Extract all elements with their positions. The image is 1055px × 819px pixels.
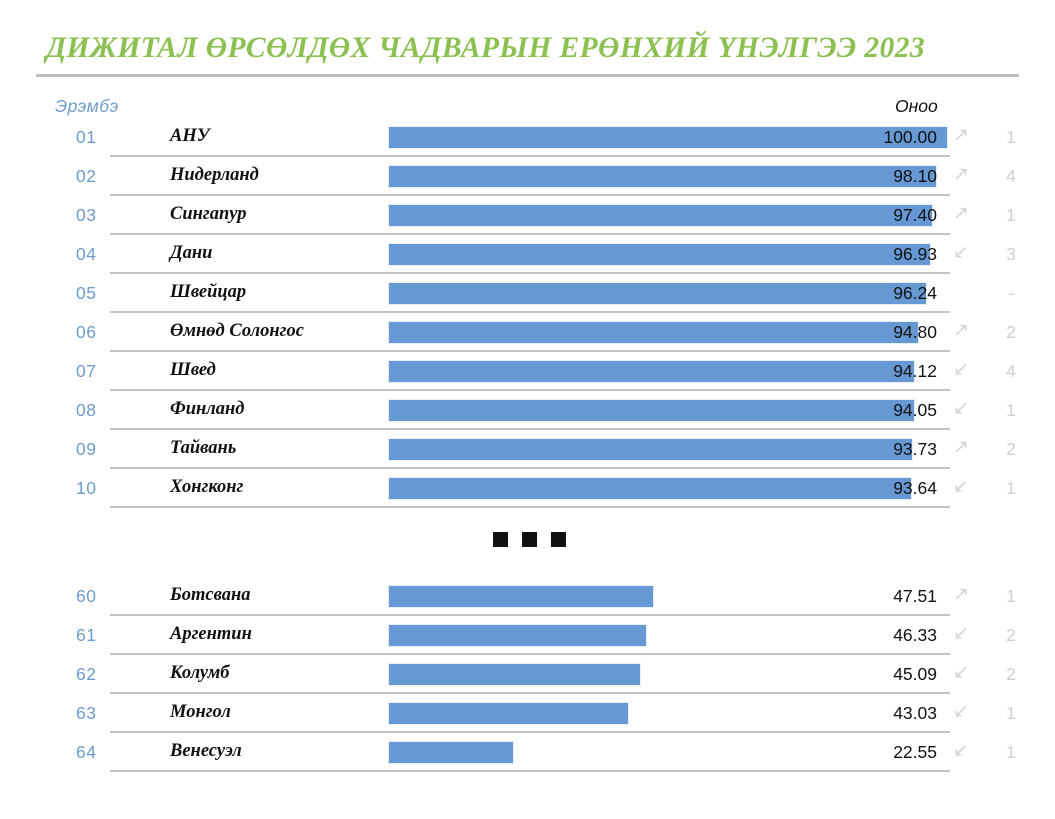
rank-cell: 04 (76, 244, 110, 265)
trend-down-icon: ↙ (950, 740, 972, 762)
score-bar-track (388, 585, 948, 608)
rank-change-value: 4 (1000, 166, 1022, 187)
table-row[interactable]: 02Нидерланд98.10↗4 (0, 157, 1055, 196)
score-bar (388, 165, 937, 188)
ellipsis-square (551, 532, 566, 547)
rank-cell: 07 (76, 361, 110, 382)
score-bar (388, 477, 912, 500)
score-bar-track (388, 438, 948, 461)
rank-cell: 02 (76, 166, 110, 187)
table-row[interactable]: 06Өмнөд Солонгос94.80↗2 (0, 313, 1055, 352)
rank-cell: 08 (76, 400, 110, 421)
rank-cell: 06 (76, 322, 110, 343)
score-value: 94.05 (893, 400, 937, 421)
score-bar-track (388, 663, 948, 686)
score-column-header: Оноо (895, 96, 937, 117)
score-value: 93.64 (893, 478, 937, 499)
table-row[interactable]: 60Ботсвана47.51↗1 (0, 577, 1055, 616)
score-value: 93.73 (893, 439, 937, 460)
score-bar-track (388, 321, 948, 344)
ellipsis-squares (493, 532, 566, 547)
score-bar (388, 126, 948, 149)
title-bar: ДИЖИТАЛ ӨРСӨЛДӨХ ЧАДВАРЫН ЕРӨНХИЙ ҮНЭЛГЭ… (0, 0, 1055, 78)
rank-cell: 62 (76, 664, 110, 685)
country-name-cell: Хонгконг (170, 477, 243, 498)
ellipsis-square (493, 532, 508, 547)
score-value: 100.00 (883, 127, 937, 148)
score-value: 46.33 (893, 625, 937, 646)
score-bar-track (388, 243, 948, 266)
table-row[interactable]: 62Колумб45.09↙2 (0, 655, 1055, 694)
score-value: 45.09 (893, 664, 937, 685)
rank-cell: 61 (76, 625, 110, 646)
trend-down-icon: ↙ (950, 701, 972, 723)
country-name-cell: Нидерланд (170, 165, 259, 186)
rank-change-value: 1 (1000, 400, 1022, 421)
score-bar-track (388, 477, 948, 500)
rank-change-value: 3 (1000, 244, 1022, 265)
score-bar-track (388, 126, 948, 149)
score-value: 96.24 (893, 283, 937, 304)
rank-change-value: 2 (1000, 664, 1022, 685)
ranking-table: 01АНУ100.00↗102Нидерланд98.10↗403Сингапу… (0, 118, 1055, 772)
country-name-cell: Швейцар (170, 282, 246, 303)
score-bar (388, 321, 919, 344)
ranking-bottom-group: 60Ботсвана47.51↗161Аргентин46.33↙262Колу… (0, 577, 1055, 772)
score-bar (388, 702, 629, 725)
rank-change-value: 2 (1000, 439, 1022, 460)
rank-cell: 60 (76, 586, 110, 607)
score-bar (388, 360, 915, 383)
table-row[interactable]: 04Дани96.93↙3 (0, 235, 1055, 274)
country-name-cell: Сингапур (170, 204, 246, 225)
score-bar-track (388, 360, 948, 383)
country-name-cell: Тайвань (170, 438, 236, 459)
rank-change-value: 1 (1000, 205, 1022, 226)
country-name-cell: Финланд (170, 399, 244, 420)
title-divider (36, 74, 1019, 77)
score-bar (388, 585, 654, 608)
rank-cell: 05 (76, 283, 110, 304)
trend-down-icon: ↙ (950, 359, 972, 381)
rank-change-value: 1 (1000, 703, 1022, 724)
score-bar-track (388, 702, 948, 725)
score-value: 47.51 (893, 586, 937, 607)
table-row[interactable]: 61Аргентин46.33↙2 (0, 616, 1055, 655)
row-divider (110, 770, 950, 772)
table-row[interactable]: 10Хонгконг93.64↙1 (0, 469, 1055, 508)
rank-change-value: 2 (1000, 625, 1022, 646)
score-value: 22.55 (893, 742, 937, 763)
rank-cell: 01 (76, 127, 110, 148)
score-bar-track (388, 282, 948, 305)
rank-cell: 10 (76, 478, 110, 499)
trend-up-icon: ↗ (950, 125, 972, 147)
country-name-cell: Колумб (170, 663, 230, 684)
score-bar-track (388, 624, 948, 647)
score-bar (388, 624, 647, 647)
score-value: 98.10 (893, 166, 937, 187)
country-name-cell: Өмнөд Солонгос (170, 321, 304, 342)
trend-up-icon: ↗ (950, 437, 972, 459)
table-row[interactable]: 08Финланд94.05↙1 (0, 391, 1055, 430)
trend-down-icon: ↙ (950, 242, 972, 264)
score-bar (388, 438, 913, 461)
table-row[interactable]: 03Сингапур97.40↗1 (0, 196, 1055, 235)
score-bar-track (388, 399, 948, 422)
score-value: 96.93 (893, 244, 937, 265)
trend-up-icon: ↗ (950, 320, 972, 342)
rank-change-value: 2 (1000, 322, 1022, 343)
score-value: 43.03 (893, 703, 937, 724)
rank-cell: 63 (76, 703, 110, 724)
ellipsis-square (522, 532, 537, 547)
country-name-cell: Дани (170, 243, 212, 264)
ellipsis-separator (0, 508, 1055, 577)
table-row[interactable]: 09Тайвань93.73↗2 (0, 430, 1055, 469)
score-bar (388, 282, 927, 305)
country-name-cell: Аргентин (170, 624, 252, 645)
country-name-cell: Монгол (170, 702, 231, 723)
trend-down-icon: ↙ (950, 623, 972, 645)
country-name-cell: АНУ (170, 126, 210, 147)
trend-up-icon: ↗ (950, 584, 972, 606)
table-row[interactable]: 01АНУ100.00↗1 (0, 118, 1055, 157)
page-title: ДИЖИТАЛ ӨРСӨЛДӨХ ЧАДВАРЫН ЕРӨНХИЙ ҮНЭЛГЭ… (46, 32, 925, 65)
country-name-cell: Швед (170, 360, 216, 381)
rank-change-value: - (1000, 283, 1022, 304)
score-value: 94.12 (893, 361, 937, 382)
rank-column-header: Эрэмбэ (55, 96, 89, 117)
score-bar (388, 663, 641, 686)
score-value: 94.80 (893, 322, 937, 343)
score-bar (388, 204, 933, 227)
rank-cell: 64 (76, 742, 110, 763)
trend-up-icon: ↗ (950, 164, 972, 186)
rank-change-value: 1 (1000, 586, 1022, 607)
rank-change-value: 1 (1000, 478, 1022, 499)
trend-up-icon: ↗ (950, 203, 972, 225)
country-name-cell: Ботсвана (170, 585, 251, 606)
trend-down-icon: ↙ (950, 476, 972, 498)
rank-change-value: 1 (1000, 127, 1022, 148)
score-bar (388, 741, 514, 764)
country-name-cell: Венесуэл (170, 741, 242, 762)
table-row[interactable]: 64Венесуэл22.55↙1 (0, 733, 1055, 772)
trend-down-icon: ↙ (950, 398, 972, 420)
trend-down-icon: ↙ (950, 662, 972, 684)
score-bar-track (388, 204, 948, 227)
rank-cell: 09 (76, 439, 110, 460)
table-row[interactable]: 63Монгол43.03↙1 (0, 694, 1055, 733)
score-bar (388, 243, 931, 266)
rank-cell: 03 (76, 205, 110, 226)
score-bar-track (388, 741, 948, 764)
rank-change-value: 4 (1000, 361, 1022, 382)
table-row[interactable]: 05Швейцар96.24- (0, 274, 1055, 313)
score-value: 97.40 (893, 205, 937, 226)
score-bar (388, 399, 915, 422)
score-bar-track (388, 165, 948, 188)
rank-change-value: 1 (1000, 742, 1022, 763)
table-row[interactable]: 07Швед94.12↙4 (0, 352, 1055, 391)
ranking-top-group: 01АНУ100.00↗102Нидерланд98.10↗403Сингапу… (0, 118, 1055, 508)
